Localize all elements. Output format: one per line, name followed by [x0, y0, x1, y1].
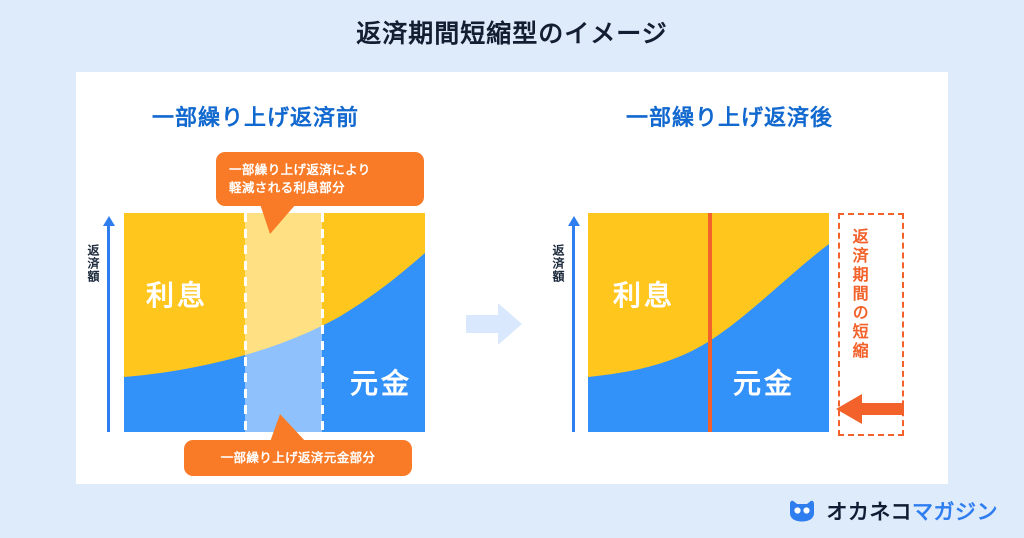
- panel-heading-before: 一部繰り上げ返済前: [152, 100, 359, 132]
- y-axis-label-after: 返済額: [550, 244, 564, 283]
- page-title: 返済期間短縮型のイメージ: [0, 14, 1024, 50]
- callout-tail-icon: [260, 204, 296, 234]
- shortened-period-arrow-icon: [836, 394, 904, 424]
- chart-after: [588, 213, 829, 432]
- logo-text-secondary: マガジン: [912, 501, 998, 524]
- transition-arrow-icon: [466, 303, 522, 345]
- chart-after-svg: [588, 213, 829, 432]
- shortened-period-label: 返済期間の短縮: [849, 228, 867, 361]
- cat-face-icon: [787, 500, 817, 522]
- callout-tail-icon: [270, 414, 306, 442]
- logo-text: オカネコマガジン: [826, 496, 998, 526]
- panel-heading-after: 一部繰り上げ返済後: [626, 100, 833, 132]
- y-axis-label-before: 返済額: [85, 244, 99, 283]
- brand-logo: オカネコマガジン: [787, 496, 998, 526]
- logo-text-primary: オカネコ: [826, 501, 912, 524]
- axis-line: [107, 224, 110, 432]
- callout-reduced-interest: 一部繰り上げ返済により 軽減される利息部分: [216, 152, 424, 206]
- chart-before: [124, 213, 425, 432]
- callout-prepaid-principal: 一部繰り上げ返済元金部分: [184, 440, 412, 476]
- infographic-page: 返済期間短縮型のイメージ 一部繰り上げ返済前 返済額 利息 元金 一部繰り上げ返…: [0, 0, 1024, 538]
- axis-line: [572, 224, 575, 432]
- prepayment-highlight-band: [245, 213, 322, 432]
- chart-before-svg: [124, 213, 425, 432]
